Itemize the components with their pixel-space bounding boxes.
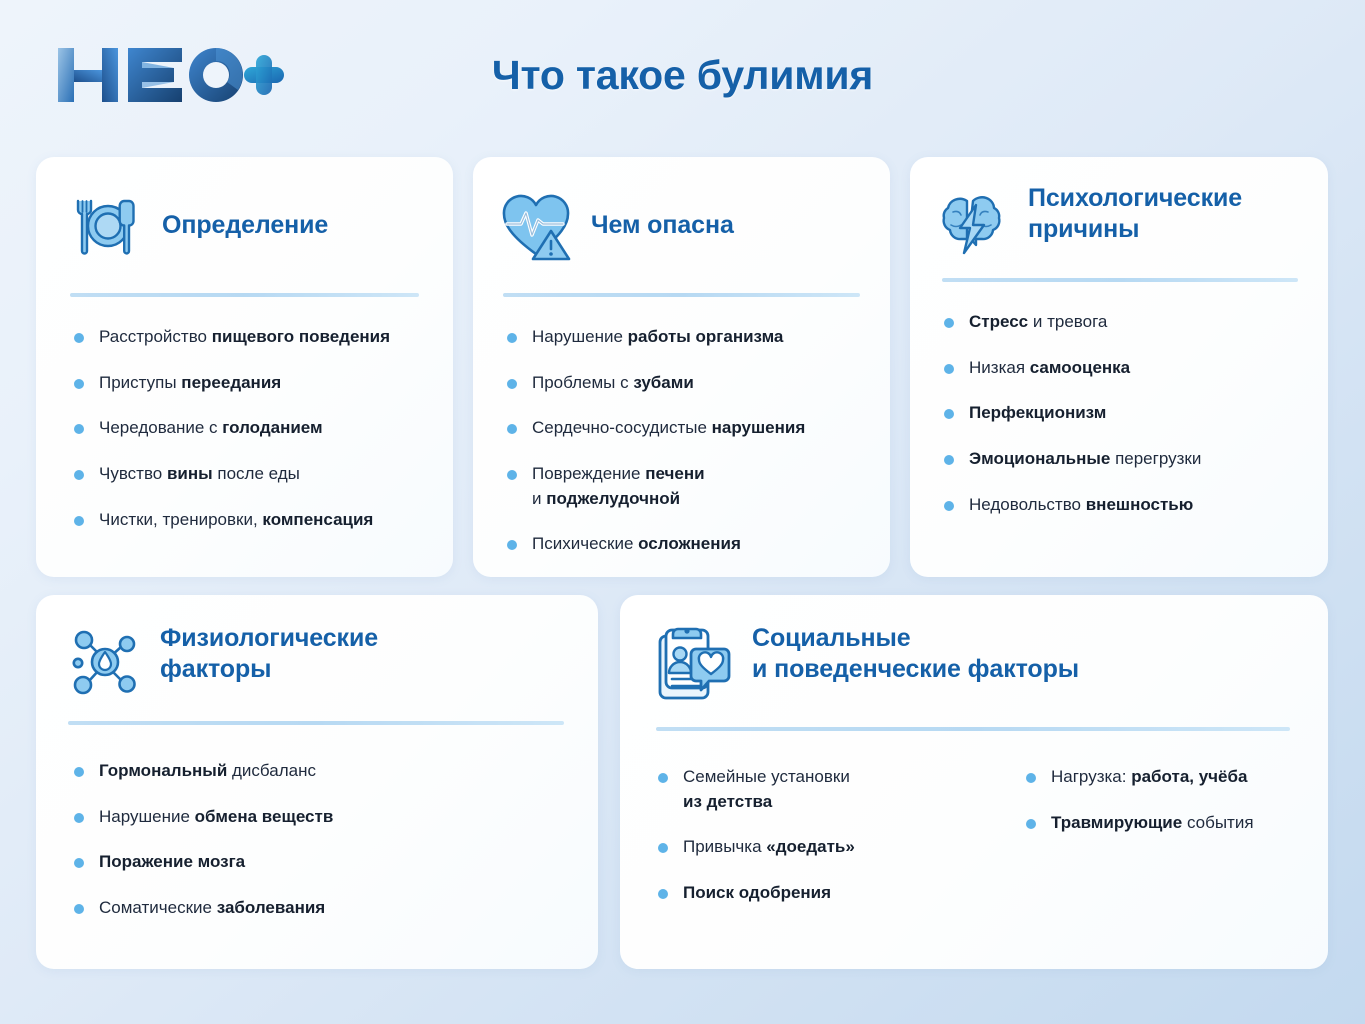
- card-definition-header: Определение: [36, 157, 453, 263]
- card-social: Социальныеи поведенческие факторы Семейн…: [620, 595, 1328, 969]
- list-item: Травмирующие события: [1024, 811, 1298, 836]
- card-definition-divider: [70, 293, 419, 297]
- card-definition-title: Определение: [162, 210, 328, 241]
- clipboard-person-heart-icon: [654, 625, 734, 705]
- card-definition-bullets: Расстройство пищевого поведенияПриступы …: [72, 325, 423, 532]
- heart-pulse-warning-icon: [499, 189, 573, 263]
- plate-fork-knife-icon: [70, 189, 144, 263]
- list-item: Низкая самооценка: [942, 356, 1304, 381]
- list-item: Семейные установкииз детства: [656, 765, 1006, 814]
- card-psych: Психологическиепричины Стресс и тревогаН…: [910, 157, 1328, 577]
- list-item: Нарушение работы организма: [505, 325, 864, 350]
- list-item: Чередование с голоданием: [72, 416, 423, 441]
- card-psych-header: Психологическиепричины: [910, 157, 1328, 261]
- card-psych-title: Психологическиепричины: [1028, 183, 1242, 246]
- card-danger-bullets: Нарушение работы организмаПроблемы с зуб…: [505, 325, 864, 557]
- list-item: Расстройство пищевого поведения: [72, 325, 423, 350]
- card-psych-divider: [942, 278, 1298, 282]
- list-item: Недовольство внешностью: [942, 493, 1304, 518]
- list-item: Стресс и тревога: [942, 310, 1304, 335]
- list-item: Чистки, тренировки, компенсация: [72, 508, 423, 533]
- card-danger-header: Чем опасна: [473, 157, 890, 263]
- list-item: Привычка «доедать»: [656, 835, 1006, 860]
- card-physio-header: Физиологическиефакторы: [36, 595, 598, 699]
- card-danger-divider: [503, 293, 860, 297]
- card-social-title: Социальныеи поведенческие факторы: [752, 623, 1079, 686]
- list-item: Эмоциональные перегрузки: [942, 447, 1304, 472]
- list-item: Нагрузка: работа, учёба: [1024, 765, 1298, 790]
- list-item: Чувство вины после еды: [72, 462, 423, 487]
- card-physio-divider: [68, 721, 564, 725]
- card-social-header: Социальныеи поведенческие факторы: [620, 595, 1328, 705]
- list-item: Повреждение печении поджелудочной: [505, 462, 864, 511]
- list-item: Сердечно-сосудистые нарушения: [505, 416, 864, 441]
- card-physio: Физиологическиефакторы Гормональный дисб…: [36, 595, 598, 969]
- molecule-hormone-icon: [68, 625, 142, 699]
- card-social-bullets-right: Нагрузка: работа, учёбаТравмирующие собы…: [1024, 765, 1298, 927]
- card-psych-bullets: Стресс и тревогаНизкая самооценкаПерфекц…: [942, 310, 1304, 517]
- page-title: Что такое булимия: [0, 52, 1365, 99]
- list-item: Нарушение обмена веществ: [72, 805, 564, 830]
- list-item: Поражение мозга: [72, 850, 564, 875]
- list-item: Поиск одобрения: [656, 881, 1006, 906]
- list-item: Гормональный дисбаланс: [72, 759, 564, 784]
- list-item: Психические осложнения: [505, 532, 864, 557]
- list-item: Соматические заболевания: [72, 896, 564, 921]
- card-social-bullets-left: Семейные установкииз детстваПривычка «до…: [656, 765, 1006, 927]
- list-item: Приступы переедания: [72, 371, 423, 396]
- card-danger-title: Чем опасна: [591, 210, 734, 241]
- page-header: Что такое булимия: [0, 0, 1365, 145]
- card-danger: Чем опасна Нарушение работы организмаПро…: [473, 157, 890, 577]
- card-physio-bullets: Гормональный дисбалансНарушение обмена в…: [72, 759, 564, 921]
- card-definition: Определение Расстройство пищевого поведе…: [36, 157, 453, 577]
- list-item: Перфекционизм: [942, 401, 1304, 426]
- list-item: Проблемы с зубами: [505, 371, 864, 396]
- card-social-divider: [656, 727, 1290, 731]
- card-physio-title: Физиологическиефакторы: [160, 623, 378, 686]
- brain-lightning-icon: [936, 187, 1010, 261]
